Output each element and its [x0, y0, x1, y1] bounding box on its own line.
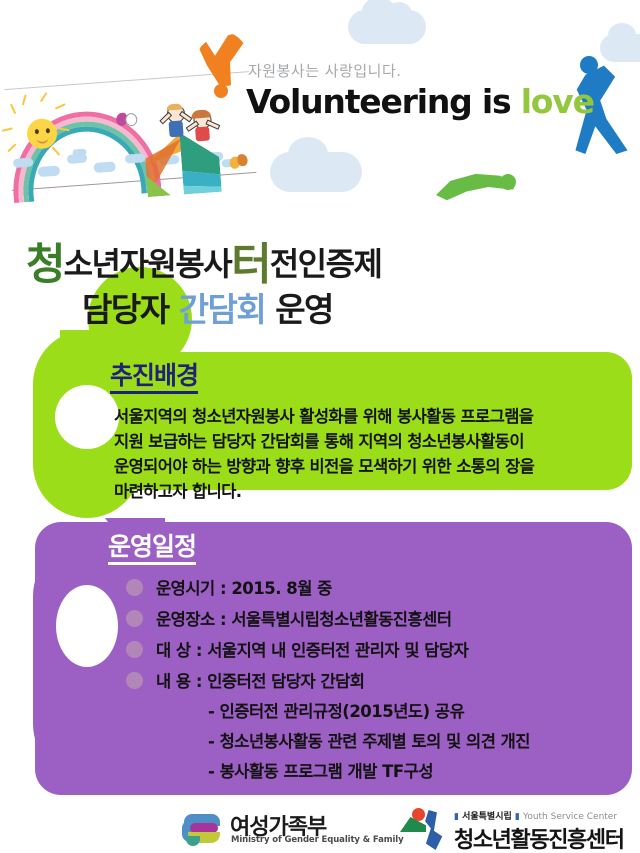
title-text-damdangja: 담당자 — [82, 290, 169, 329]
title-text-sonyeon: 소년자원봉사 — [64, 245, 232, 283]
list-item: 운영장소 : 서울특별시립청소년활동진흥센터 — [126, 605, 626, 636]
schedule-item-value: 서울특별시립청소년활동진흥센터 — [231, 610, 451, 629]
background-line: 운영되어야 하는 방향과 향후 비전을 모색하기 위한 소통의 장을 — [114, 454, 624, 479]
section-schedule-heading: 운영일정 — [108, 533, 196, 565]
logo-youth-service-center: ▮ 서울특별시립 ▮ Youth Service Center 청소년활동진흥센… — [400, 808, 636, 850]
cloud-icon — [13, 157, 34, 167]
divider-bar: ▮ — [454, 812, 459, 822]
background-line: 마련하고자 합니다. — [114, 479, 624, 504]
slogan-english-main: Volunteering is — [246, 82, 510, 121]
bullet-dot-icon — [126, 579, 143, 596]
cloud-icon — [38, 166, 61, 178]
schedule-item-label: 운영장소 — [156, 606, 215, 630]
bullet-dot-icon — [126, 610, 143, 627]
poster-title: 청소년자원봉사터전인증제 담당자 간담회 운영 — [0, 215, 640, 345]
center-prefix-line: ▮ 서울특별시립 ▮ Youth Service Center — [454, 809, 617, 822]
schedule-item-text: 내 용 : 인증터전 담당자 간담회 — [156, 668, 365, 692]
section-background-body: 서울지역의 청소년자원봉사 활성화를 위해 봉사활동 프로그램을 지원 보급하는… — [114, 404, 624, 504]
footer-logos: 여성가족부 Ministry of Gender Equality & Fami… — [0, 805, 640, 853]
list-item: 내 용 : 인증터전 담당자 간담회 — [126, 667, 626, 698]
title-text-jeonincheungje: 전인증제 — [270, 245, 382, 283]
schedule-item-label: 운영시기 — [156, 575, 215, 599]
schedule-item-text: 운영시기 : 2015. 8월 중 — [156, 575, 332, 599]
cloud-icon — [348, 10, 426, 44]
list-item: 대 상 : 서울지역 내 인증터전 관리자 및 담당자 — [126, 636, 626, 667]
header-banner: 자원봉사는 사랑입니다. Volunteering is love — [0, 0, 640, 215]
schedule-item-label: 내 용 — [156, 668, 191, 692]
child-figure-icon — [161, 104, 189, 140]
child-figure-icon — [188, 110, 216, 144]
center-name-korean: 청소년활동진흥센터 — [454, 822, 624, 853]
schedule-item-text: 운영장소 : 서울특별시립청소년활동진흥센터 — [156, 606, 452, 630]
slogan-korean: 자원봉사는 사랑입니다. — [248, 60, 402, 81]
logo-ministry-of-gender-equality: 여성가족부 Ministry of Gender Equality & Fami… — [182, 808, 387, 850]
ministry-logo-mark-icon — [182, 812, 226, 846]
title-text-gandamhoe: 간담회 — [179, 290, 266, 329]
title-line-2: 담당자 간담회 운영 — [82, 283, 333, 331]
cloud-icon — [125, 153, 146, 163]
center-logo-mark-icon — [400, 808, 448, 850]
slogan-english: Volunteering is love — [246, 82, 594, 121]
schedule-sub-item: - 봉사활동 프로그램 개발 TF구성 — [208, 758, 433, 782]
title-text-unyeong: 운영 — [275, 290, 333, 329]
green-panel-tab-hole — [55, 385, 119, 449]
background-line: 지원 보급하는 담당자 간담회를 통해 지역의 청소년봉사활동이 — [114, 429, 624, 454]
purple-panel-tab-hole — [56, 585, 118, 667]
cloud-icon — [72, 149, 86, 157]
ministry-name-english: Ministry of Gender Equality & Family — [231, 835, 404, 845]
butterfly-icon — [229, 154, 248, 171]
title-char-cheong: 청 — [26, 240, 64, 290]
list-item: - 봉사활동 프로그램 개발 TF구성 — [126, 758, 626, 788]
list-item: - 인증터전 관리규정(2015년도) 공유 — [126, 698, 626, 728]
poster-canvas: 자원봉사는 사랑입니다. Volunteering is love 청소년자원봉… — [0, 0, 640, 853]
list-item: 운영시기 : 2015. 8월 중 — [126, 574, 626, 605]
schedule-item-value: 2015. 8월 중 — [231, 579, 332, 598]
cloud-icon — [270, 152, 362, 192]
bullet-dot-icon — [126, 641, 143, 658]
schedule-sub-item: - 청소년봉사활동 관련 주제별 토의 및 의견 개진 — [208, 728, 530, 752]
bullet-dot-icon — [126, 672, 143, 689]
list-item: - 청소년봉사활동 관련 주제별 토의 및 의견 개진 — [126, 728, 626, 758]
schedule-sub-item: - 인증터전 관리규정(2015년도) 공유 — [208, 698, 464, 722]
background-line: 서울지역의 청소년자원봉사 활성화를 위해 봉사활동 프로그램을 — [114, 404, 624, 429]
schedule-item-value: 서울지역 내 인증터전 관리자 및 담당자 — [207, 641, 468, 660]
schedule-item-label: 대 상 — [156, 637, 191, 661]
center-prefix-english: Youth Service Center — [523, 812, 617, 822]
section-background-heading: 추진배경 — [110, 362, 198, 394]
green-person-icon — [436, 158, 526, 202]
schedule-item-text: 대 상 : 서울지역 내 인증터전 관리자 및 담당자 — [156, 637, 468, 661]
schedule-item-value: 인증터전 담당자 간담회 — [207, 672, 364, 691]
cloud-icon — [93, 161, 116, 173]
butterfly-icon — [116, 112, 137, 127]
center-prefix-korean: 서울특별시립 — [462, 812, 512, 822]
divider-bar: ▮ — [515, 812, 520, 822]
schedule-bullet-list: 운영시기 : 2015. 8월 중 운영장소 : 서울특별시립청소년활동진흥센터… — [126, 574, 626, 788]
slogan-english-accent: love — [521, 82, 594, 121]
